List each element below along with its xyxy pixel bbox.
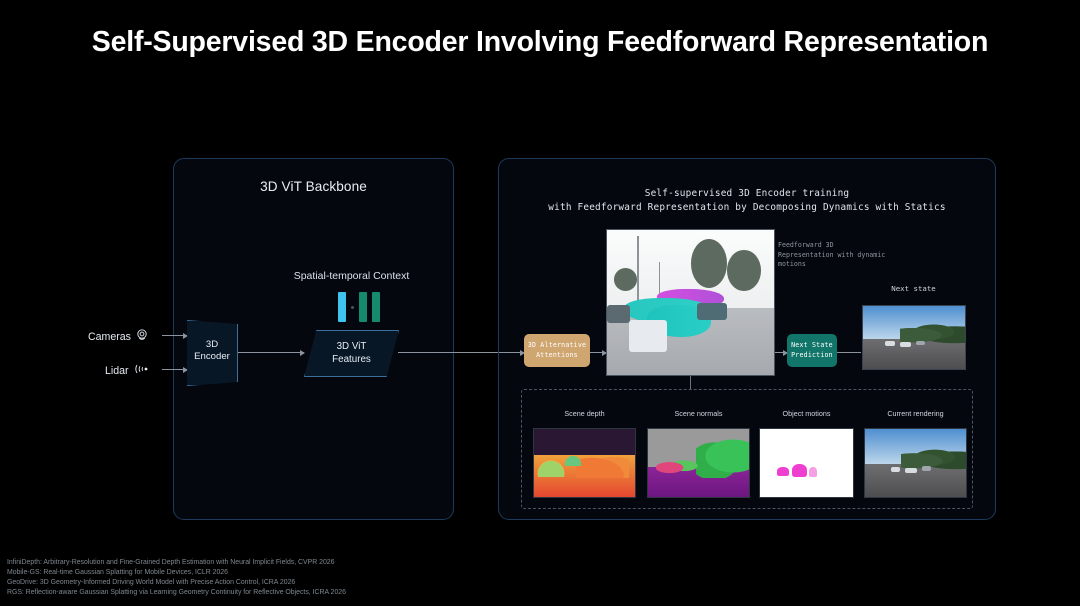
thumb-label-scene-normals: Scene normals bbox=[647, 409, 750, 418]
arrow-scene-to-next-state-prediction bbox=[775, 352, 787, 353]
right-panel-title: Self-supervised 3D Encoder training with… bbox=[499, 187, 995, 215]
spatial-temporal-context-label: Spatial-temporal Context bbox=[234, 270, 469, 282]
encoder-block-label: 3D Encoder bbox=[186, 339, 238, 363]
thumb-label-scene-depth: Scene depth bbox=[533, 409, 636, 418]
citation-line-3: GeoDrive: 3D Geometry-Informed Driving W… bbox=[7, 578, 707, 588]
right-panel-title-line2: with Feedforward Representation by Decom… bbox=[499, 201, 995, 215]
thumb-label-object-motions: Object motions bbox=[759, 409, 854, 418]
connector-features-to-right-panel bbox=[398, 352, 499, 353]
right-panel-title-line1: Self-supervised 3D Encoder training bbox=[499, 187, 995, 201]
thumb-scene-normals bbox=[647, 428, 750, 498]
page-title: Self-Supervised 3D Encoder Involving Fee… bbox=[0, 26, 1080, 59]
arrow-cameras-to-encoder bbox=[162, 335, 187, 336]
arrow-encoder-to-features bbox=[238, 352, 304, 353]
citation-line-4: RGS: Reflection-aware Gaussian Splatting… bbox=[7, 588, 707, 598]
thumb-label-current-rendering: Current rendering bbox=[864, 409, 967, 418]
badge-next-state-prediction[interactable]: Next State Prediction bbox=[787, 334, 837, 367]
lidar-input-label: Lidar bbox=[105, 363, 150, 378]
spatial-temporal-context-bars bbox=[338, 292, 388, 322]
context-bar-3 bbox=[372, 292, 380, 322]
citation-line-2: Mobile-GS: Real-time Gaussian Splatting … bbox=[7, 568, 707, 578]
arrow-attentions-to-scene bbox=[590, 352, 606, 353]
connector-scene-to-outputs bbox=[690, 376, 691, 389]
feedforward-representation-note: Feedforward 3D Representation with dynam… bbox=[778, 241, 898, 270]
citation-line-1: InfiniDepth: Arbitrary-Resolution and Fi… bbox=[7, 558, 707, 568]
main-dynamic-scene-image bbox=[606, 229, 775, 376]
arrow-lidar-to-encoder bbox=[162, 369, 187, 370]
next-state-label: Next state bbox=[861, 284, 966, 293]
thumb-scene-depth bbox=[533, 428, 636, 498]
arrow-into-alternative-attentions bbox=[499, 352, 524, 353]
left-panel-title: 3D ViT Backbone bbox=[174, 179, 453, 194]
next-state-image bbox=[862, 305, 966, 370]
thumb-current-rendering bbox=[864, 428, 967, 498]
context-separator-dot bbox=[351, 306, 354, 309]
cameras-label-text: Cameras bbox=[88, 331, 131, 343]
vit-features-block-label: 3D ViT Features bbox=[304, 341, 399, 366]
lidar-label-text: Lidar bbox=[105, 365, 129, 377]
footer-citations: InfiniDepth: Arbitrary-Resolution and Fi… bbox=[7, 558, 707, 598]
badge-3d-alternative-attentions[interactable]: 3D Alternative Attentions bbox=[524, 334, 590, 367]
connector-prediction-to-next-state bbox=[837, 352, 861, 353]
context-bar-1 bbox=[338, 292, 346, 322]
slide-root: Self-Supervised 3D Encoder Involving Fee… bbox=[0, 0, 1080, 606]
lidar-wave-icon bbox=[134, 363, 150, 378]
thumb-object-motions bbox=[759, 428, 854, 498]
camera-lens-icon bbox=[136, 329, 148, 344]
cameras-input-label: Cameras bbox=[88, 329, 148, 344]
context-bar-2 bbox=[359, 292, 367, 322]
